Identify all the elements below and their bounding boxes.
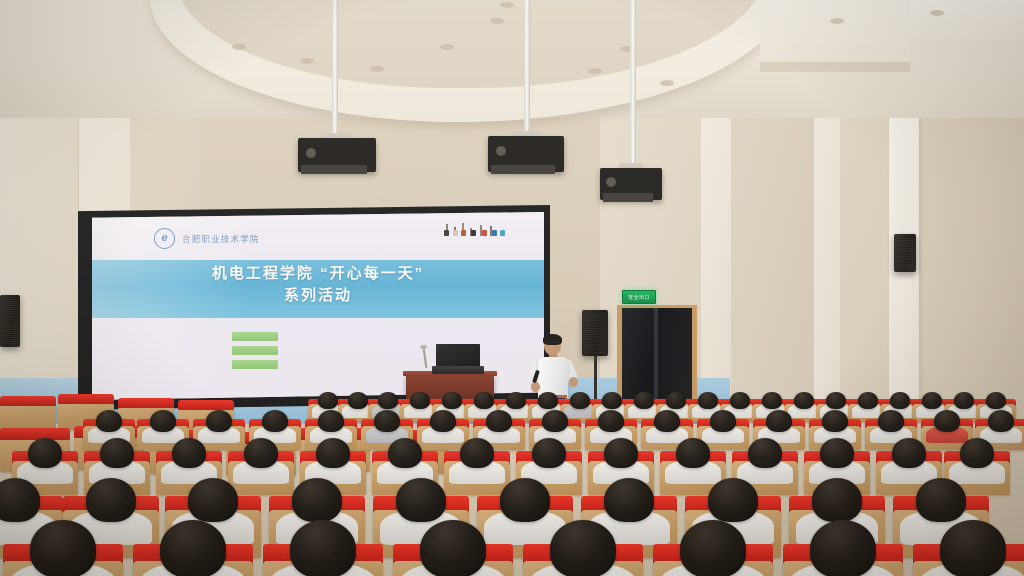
audience-member-head <box>916 478 966 522</box>
audience-member-head <box>878 410 904 432</box>
audience-member-head <box>460 438 494 468</box>
downlight-icon <box>588 68 602 74</box>
audience-member-head <box>538 392 558 409</box>
audience-member-head <box>680 520 746 576</box>
audience-member-head <box>710 410 736 432</box>
audience-member-head <box>826 392 846 409</box>
audience-member-head <box>348 392 368 409</box>
audience-member-head <box>960 438 994 468</box>
downlight-icon <box>370 66 384 72</box>
college-emblem-icon: e <box>154 228 175 249</box>
audience-member-head <box>396 478 446 522</box>
audience-member-head <box>602 392 622 409</box>
audience-member-head <box>500 478 550 522</box>
audience-member-head <box>986 392 1006 409</box>
audience-member-head <box>318 410 344 432</box>
audience-member-head <box>378 392 398 409</box>
audience-member-head <box>290 520 356 576</box>
audience-member-head <box>810 520 876 576</box>
empty-seat-cushion[interactable] <box>118 398 174 408</box>
audience-member-head <box>598 410 624 432</box>
presenter-hand-right <box>569 377 578 387</box>
audience-member-head <box>570 392 590 409</box>
downlight-icon <box>830 18 844 24</box>
downlight-icon <box>930 10 944 16</box>
downlight-icon <box>440 44 454 50</box>
audience-member-head <box>474 392 494 409</box>
emblem-glyph: e <box>161 233 167 244</box>
exit-sign: 安全出口 <box>622 290 656 304</box>
audience-member-head <box>388 438 422 468</box>
speaker-grill <box>3 298 17 344</box>
audience-member-head <box>486 410 512 432</box>
audience-member-head <box>762 392 782 409</box>
audience-member-head <box>420 520 486 576</box>
audience-member-head <box>28 438 62 468</box>
ceiling-bulkhead-right <box>760 0 910 66</box>
empty-seat-cushion[interactable] <box>0 428 70 440</box>
audience-member-head <box>550 520 616 576</box>
speaker-grill <box>585 313 605 353</box>
projector-left-lens-icon <box>306 148 316 158</box>
audience-member-head <box>150 410 176 432</box>
downlight-icon <box>500 2 514 8</box>
audience-member-head <box>794 392 814 409</box>
audience-member-head <box>890 392 910 409</box>
empty-seat-cushion[interactable] <box>0 396 56 406</box>
audience-member-head <box>858 392 878 409</box>
audience-glasses-icon <box>750 457 769 460</box>
empty-seat-cushion[interactable] <box>178 400 234 410</box>
audience-member-head <box>812 478 862 522</box>
downlight-icon <box>232 44 246 50</box>
audience-member-head <box>318 392 338 409</box>
ledge-prop-cap <box>482 230 487 236</box>
college-name: 合肥职业技术学院 <box>182 233 260 245</box>
audience-member-head <box>410 392 430 409</box>
slide-detail-row <box>232 346 288 355</box>
audience-member-head <box>506 392 526 409</box>
downlight-icon <box>660 80 674 86</box>
slide-row-tag <box>232 360 278 369</box>
audience-member-head <box>954 392 974 409</box>
ledge-prop-cap <box>471 230 476 236</box>
projector-center-lower-shell <box>491 165 555 174</box>
audience-member-head <box>316 438 350 468</box>
audience-member-head <box>172 438 206 468</box>
audience-member-head <box>820 438 854 468</box>
audience-member-head <box>748 438 782 468</box>
projector-center-mount-pole <box>524 0 530 136</box>
doorway-center-mullion <box>654 308 658 405</box>
audience-member-head <box>604 478 654 522</box>
audience-member-head <box>374 410 400 432</box>
presenter-hand-left <box>531 382 540 392</box>
slide-logo: e 合肥职业技术学院 <box>154 228 260 249</box>
audience-member-head <box>442 392 462 409</box>
audience-member-head <box>922 392 942 409</box>
ledge-prop-cap <box>444 230 449 236</box>
slide-title-line-2: 系列活动 <box>92 285 544 307</box>
slide-detail-rows <box>232 332 288 369</box>
audience-member-head <box>666 392 686 409</box>
slide-row-tag <box>232 332 278 341</box>
audience-member-head <box>708 478 758 522</box>
audience-member-head <box>988 410 1014 432</box>
exit-sign-label: 安全出口 <box>628 294 650 301</box>
audience-member-head <box>262 410 288 432</box>
audience-member-head <box>604 438 638 468</box>
projector-left-mount-pole <box>332 0 338 138</box>
downlight-icon <box>490 18 504 24</box>
audience-member-head <box>206 410 232 432</box>
speaker-grill <box>897 237 913 269</box>
audience-member-head <box>634 392 654 409</box>
audience-seating <box>0 392 1024 576</box>
slide-detail-row <box>232 332 288 341</box>
audience-member-head <box>698 392 718 409</box>
audience-member-head <box>730 392 750 409</box>
audience-member-head <box>766 410 792 432</box>
ledge-prop-cap <box>500 230 505 236</box>
speaker-stage-right <box>582 310 608 356</box>
audience-member-head <box>940 520 1006 576</box>
ledge-prop-cap <box>492 230 497 236</box>
audience-member-head <box>676 438 710 468</box>
audience-member-head <box>244 438 278 468</box>
laptop-base <box>432 366 484 374</box>
slide-row-tag <box>232 346 278 355</box>
audience-member-head <box>934 410 960 432</box>
audience-member-head <box>654 410 680 432</box>
laptop-screen <box>436 344 480 367</box>
ledge-prop-cap <box>453 230 458 236</box>
speaker-wall-left <box>0 295 20 347</box>
projector-right-mount-pole <box>630 0 636 168</box>
audience-member-head <box>100 438 134 468</box>
empty-seat-cushion[interactable] <box>58 394 114 404</box>
ledge-prop-cap <box>461 230 466 236</box>
microphone-head-icon <box>420 345 427 349</box>
audience-member-head <box>430 410 456 432</box>
auditorium-scene: 安全出口 e 合肥职业技术学院 机电工程学院 “开心每一天” 系列活动 <box>0 0 1024 576</box>
audience-member-head <box>892 438 926 468</box>
downlight-icon <box>300 58 314 64</box>
audience-member-head <box>160 520 226 576</box>
audience-member-head <box>188 478 238 522</box>
audience-member-head <box>96 410 122 432</box>
slide-title: 机电工程学院 “开心每一天” 系列活动 <box>92 263 544 307</box>
audience-member-head <box>86 478 136 522</box>
audience-member-head <box>542 410 568 432</box>
presenter-glasses-icon <box>545 342 560 347</box>
projector-right-lower-shell <box>603 193 653 202</box>
audience-member-head <box>532 438 566 468</box>
projector-left-lower-shell <box>301 165 367 174</box>
audience-member-head <box>292 478 342 522</box>
slide-detail-row <box>232 360 288 369</box>
speaker-wall-right <box>894 234 916 272</box>
audience-member-head <box>30 520 96 576</box>
stage-ledge-props <box>444 222 514 236</box>
slide-title-line-1: 机电工程学院 “开心每一天” <box>92 263 544 285</box>
audience-member-head <box>822 410 848 432</box>
ceiling-bulkhead-edge <box>760 62 910 72</box>
ceiling-bulkhead-far-right <box>910 0 1024 40</box>
projector-center-lens-icon <box>496 146 506 156</box>
